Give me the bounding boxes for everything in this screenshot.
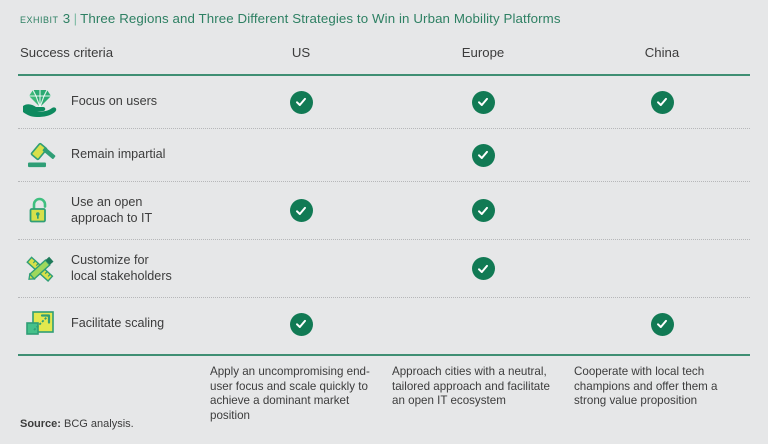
mark-cell-europe — [392, 129, 574, 181]
criteria-label: Customize for local stakeholders — [71, 253, 172, 284]
check-icon — [472, 91, 495, 114]
mark-cell-europe — [392, 240, 574, 297]
check-icon — [472, 199, 495, 222]
check-icon — [651, 313, 674, 336]
criteria-cell: Facilitate scaling — [18, 305, 210, 343]
exhibit-title-text: Three Regions and Three Different Strate… — [80, 11, 560, 26]
criteria-cell: Customize for local stakeholders — [18, 250, 210, 288]
check-icon — [472, 257, 495, 280]
mark-cell-china — [574, 129, 750, 181]
criteria-label: Facilitate scaling — [71, 316, 164, 332]
scale-arrow-icon — [20, 305, 60, 343]
column-header-europe: Europe — [392, 45, 574, 60]
source-value: BCG analysis. — [64, 418, 134, 430]
mark-cell-china — [574, 76, 750, 128]
column-header-china: China — [574, 45, 750, 60]
source-note: Source: BCG analysis. — [20, 418, 134, 430]
check-icon — [472, 144, 495, 167]
mark-cell-us — [210, 129, 392, 181]
mark-cell-europe — [392, 76, 574, 128]
exhibit-container: Exhibit 3|Three Regions and Three Differ… — [0, 0, 768, 444]
table-row: Facilitate scaling — [18, 298, 750, 350]
criteria-label: Use an open approach to IT — [71, 195, 152, 226]
criteria-cell: Use an open approach to IT — [18, 192, 210, 230]
source-label: Source: — [20, 418, 61, 430]
column-header-criteria: Success criteria — [18, 45, 210, 60]
check-icon — [290, 313, 313, 336]
check-icon — [290, 91, 313, 114]
mark-cell-europe — [392, 298, 574, 350]
hand-holding-gem-icon — [20, 83, 60, 121]
title-separator: | — [71, 11, 81, 26]
mark-cell-us — [210, 182, 392, 239]
mark-cell-europe — [392, 182, 574, 239]
mark-cell-china — [574, 240, 750, 297]
exhibit-title: Exhibit 3|Three Regions and Three Differ… — [20, 11, 561, 26]
column-header-us: US — [210, 45, 392, 60]
summary-china: Cooperate with local tech champions and … — [574, 365, 750, 409]
mark-cell-china — [574, 182, 750, 239]
open-padlock-icon — [20, 192, 60, 230]
pencil-ruler-icon — [20, 250, 60, 288]
check-icon — [290, 199, 313, 222]
check-icon — [651, 91, 674, 114]
table-row: Customize for local stakeholders — [18, 240, 750, 298]
criteria-label: Remain impartial — [71, 147, 165, 163]
summary-europe: Approach cities with a neutral, tailored… — [392, 365, 574, 409]
table-row: Focus on users — [18, 76, 750, 129]
table-header: Success criteria US Europe China — [18, 36, 750, 76]
table-row: Remain impartial — [18, 129, 750, 182]
summary-us: Apply an uncompromising end-user focus a… — [210, 365, 392, 423]
criteria-cell: Focus on users — [18, 83, 210, 121]
criteria-cell: Remain impartial — [18, 136, 210, 174]
mark-cell-us — [210, 240, 392, 297]
criteria-label: Focus on users — [71, 94, 157, 110]
mark-cell-us — [210, 298, 392, 350]
table-body: Focus on users — [18, 76, 750, 350]
gavel-icon — [20, 136, 60, 174]
table-row: Use an open approach to IT — [18, 182, 750, 240]
exhibit-number-label: Exhibit 3 — [20, 11, 71, 26]
mark-cell-china — [574, 298, 750, 350]
exhibit-header: Exhibit 3|Three Regions and Three Differ… — [18, 0, 750, 36]
mark-cell-us — [210, 76, 392, 128]
summary-row: Apply an uncompromising end-user focus a… — [18, 356, 750, 423]
